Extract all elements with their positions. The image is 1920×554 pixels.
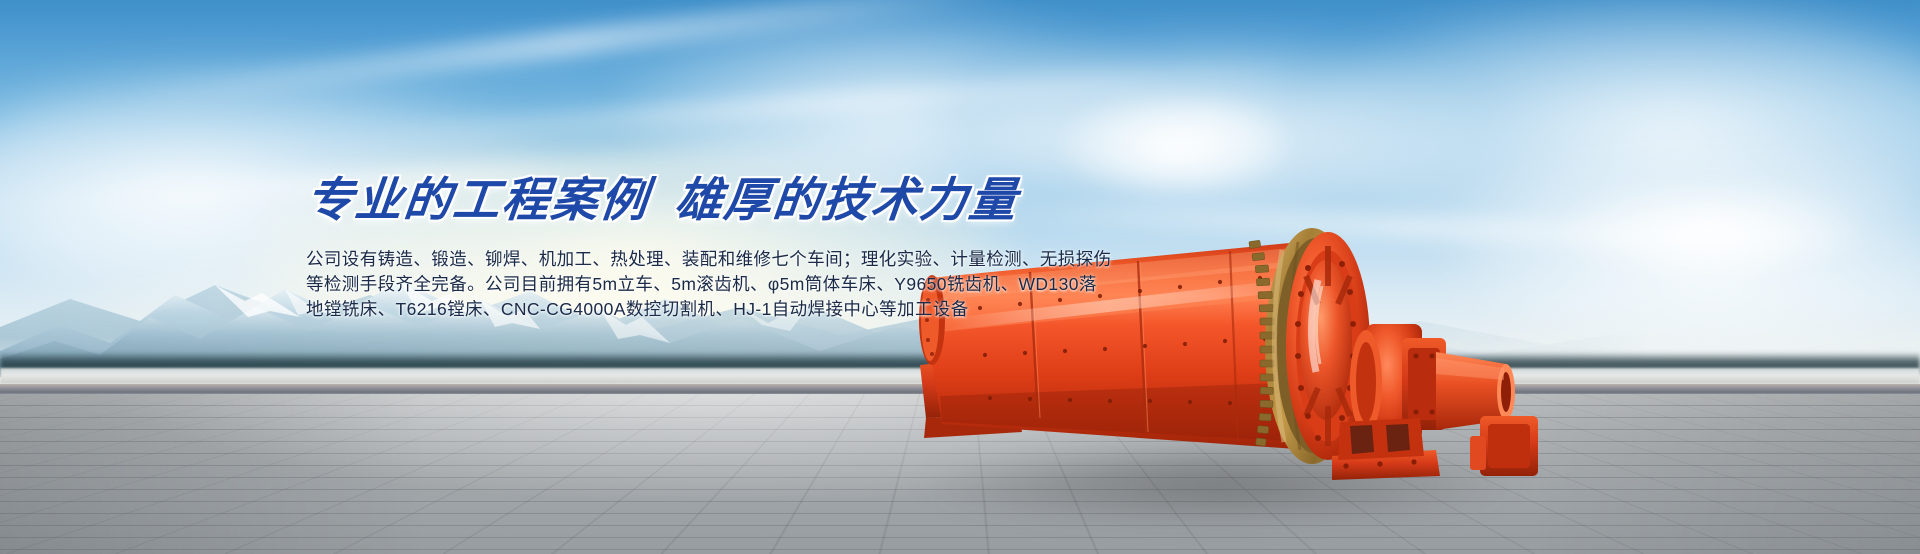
page-title: 专业的工程案例雄厚的技术力量 (304, 178, 1063, 225)
promo-banner: 专业的工程案例雄厚的技术力量 公司设有铸造、锻造、铆焊、机加工、热处理、装配和维… (0, 0, 1920, 554)
banner-text-block: 专业的工程案例雄厚的技术力量 公司设有铸造、锻造、铆焊、机加工、热处理、装配和维… (300, 178, 1060, 322)
description-line: 公司设有铸造、锻造、铆焊、机加工、热处理、装配和维修七个车间；理化实验、计量检测… (306, 247, 1060, 272)
banner-description: 公司设有铸造、锻造、铆焊、机加工、热处理、装配和维修七个车间；理化实验、计量检测… (306, 247, 1060, 322)
description-line: 地镗铣床、T6216镗床、CNC-CG4000A数控切割机、HJ-1自动焊接中心… (306, 297, 1060, 322)
headline-part-2: 雄厚的技术力量 (672, 175, 1020, 227)
headline-part-1: 专业的工程案例 (303, 175, 651, 227)
description-line: 等检测手段齐全完备。公司目前拥有5m立车、5m滚齿机、φ5m筒体车床、Y9650… (306, 272, 1060, 297)
